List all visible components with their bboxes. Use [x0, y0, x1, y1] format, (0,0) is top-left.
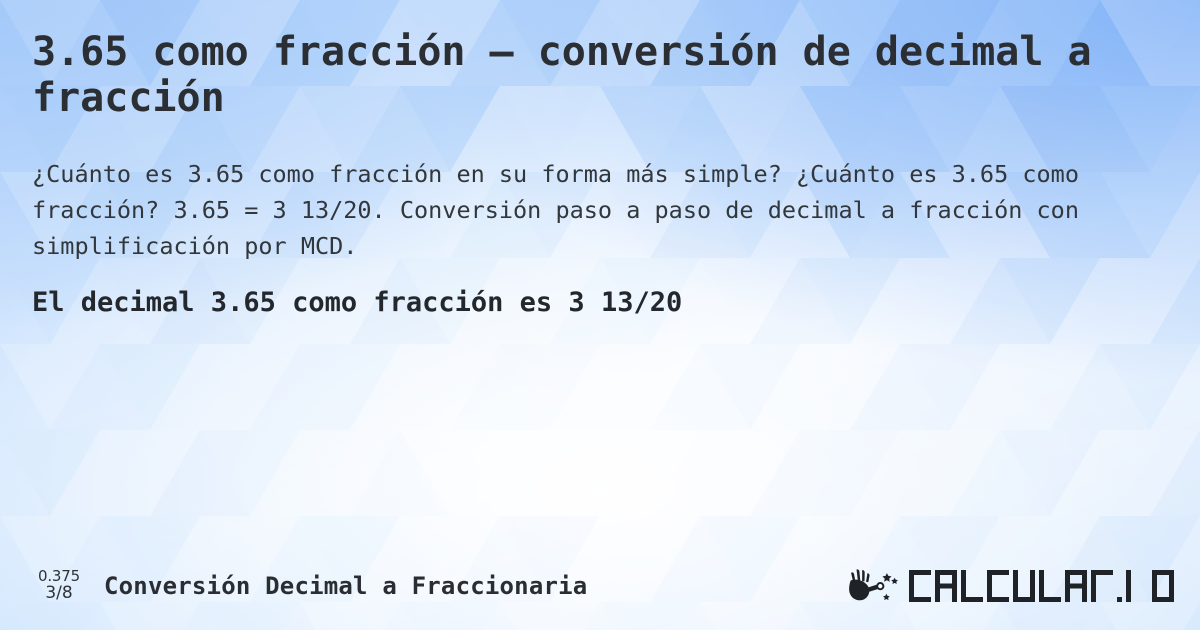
calculatio-wordmark [907, 567, 1178, 605]
card-content: 3.65 como fracción – conversión de decim… [0, 0, 1200, 630]
brand-logo[interactable] [845, 566, 1178, 606]
page-title: 3.65 como fracción – conversión de decim… [32, 0, 1092, 122]
og-image-card: 3.65 como fracción – conversión de decim… [0, 0, 1200, 630]
decimal-fraction-icon: 0.375 3/8 [28, 569, 90, 603]
page-description: ¿Cuánto es 3.65 como fracción en su form… [32, 122, 1140, 265]
hand-magic-wand-icon [845, 566, 901, 606]
fraction-icon-fraction: 3/8 [45, 585, 72, 603]
footer-bar: 0.375 3/8 Conversión Decimal a Fracciona… [0, 560, 1200, 612]
footer-title: Conversión Decimal a Fraccionaria [104, 572, 587, 600]
answer-statement: El decimal 3.65 como fracción es 3 13/20 [32, 264, 1168, 320]
